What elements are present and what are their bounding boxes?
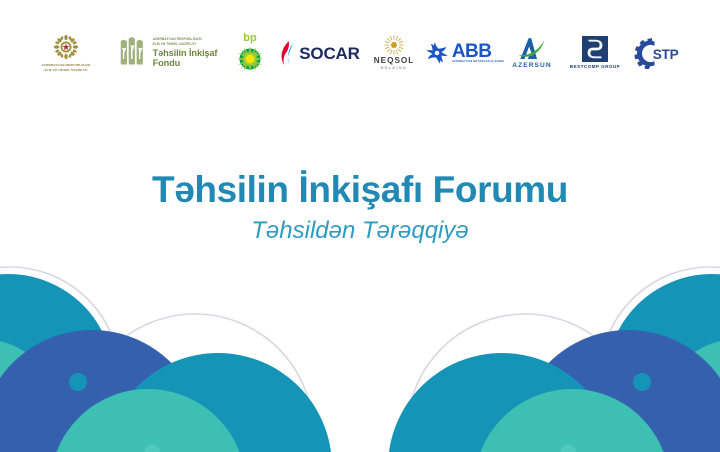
logo-bestcomp-wordmark: BESTCOMP GROUP [570, 65, 620, 70]
page-subtitle: Təhsildən Tərəqqiyə [0, 218, 720, 244]
overlapping-circles-decoration [0, 252, 720, 452]
logo-fond-name: Təhsilin İnkişaf Fondu [153, 48, 218, 69]
socar-flame-icon [280, 40, 296, 66]
logo-bp: bp [222, 21, 278, 85]
logo-azersun: AZERSUN [502, 21, 562, 85]
neqsol-sun-icon [384, 35, 404, 55]
logo-abb-wordmark: ABB [452, 43, 492, 60]
logo-fond-caption: AZƏRBAYCAN RESPUBLİKASI ELM VƏ TƏHSİL NA… [153, 37, 218, 46]
svg-text:STP: STP [653, 47, 679, 62]
logo-neqsol-sub-wordmark: HOLDING [381, 67, 408, 70]
logo-socar: SOCAR [278, 21, 362, 85]
page-title: Təhsilin İnkişafı Forumu [0, 170, 720, 210]
bp-helios-sunburst-icon [236, 45, 264, 73]
forum-banner: AZƏRBAYCAN RESPUBLİKASI ELM VƏ TƏHSİL NA… [0, 0, 720, 452]
azersun-a-swoosh-icon [517, 36, 547, 62]
education-fund-leaf-icon [119, 36, 149, 70]
logo-abb: ABB AZƏRBAYCAN BEYNƏLXALQ BANKI [426, 21, 502, 85]
logo-ministry-caption: AZƏRBAYCAN RESPUBLİKASI ELM VƏ TƏHSİL NA… [42, 63, 91, 71]
headline-block: Təhsilin İnkişafı Forumu Təhsildən Tərəq… [0, 170, 720, 244]
logo-bestcomp-group: BESTCOMP GROUP [562, 21, 628, 85]
logo-neqsol-holding: NEQSOL HOLDING [362, 21, 426, 85]
logo-bp-wordmark: bp [243, 33, 256, 44]
logo-tehsilin-inkisaf-fondu: AZƏRBAYCAN RESPUBLİKASI ELM VƏ TƏHSİL NA… [114, 21, 222, 85]
logo-azersun-wordmark: AZERSUN [512, 63, 552, 70]
azerbaijan-ministry-emblem-icon [53, 34, 79, 60]
bestcomp-square-swirl-icon [582, 36, 608, 62]
stp-gear-icon: STP [634, 38, 684, 68]
logo-ministry-of-science-and-education: AZƏRBAYCAN RESPUBLİKASI ELM VƏ TƏHSİL NA… [18, 21, 114, 85]
logo-socar-wordmark: SOCAR [299, 45, 359, 62]
logo-stp: STP [628, 21, 690, 85]
logo-abb-sub-wordmark: AZƏRBAYCAN BEYNƏLXALQ BANKI [452, 61, 504, 64]
abb-pinwheel-icon [424, 40, 450, 66]
sponsor-logo-strip: AZƏRBAYCAN RESPUBLİKASI ELM VƏ TƏHSİL NA… [0, 20, 720, 86]
logo-neqsol-wordmark: NEQSOL [374, 57, 415, 65]
